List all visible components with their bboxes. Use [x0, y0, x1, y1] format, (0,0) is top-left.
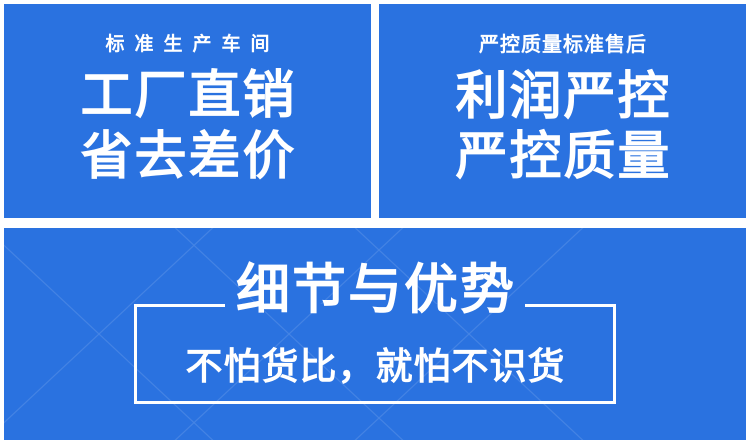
panel-details-advantages-content: 细节与优势 不怕货比，就怕不识货: [4, 228, 746, 440]
panel-details-advantages: 细节与优势 不怕货比，就怕不识货: [4, 228, 746, 440]
promo-banner: 标准生产车间 工厂直销 省去差价 严控质量标准售后 利润严控 严控质量 细节与优…: [0, 0, 750, 440]
factory-direct-headline-line1: 工厂直销: [78, 66, 296, 126]
panel-quality-control-content: 严控质量标准售后 利润严控 严控质量: [379, 4, 746, 218]
quality-control-headline-line2: 严控质量: [453, 127, 671, 187]
factory-direct-eyebrow: 标准生产车间: [95, 35, 279, 54]
quality-control-eyebrow: 严控质量标准售后: [478, 35, 647, 55]
quality-control-headline-line1: 利润严控: [453, 67, 671, 127]
panel-factory-direct: 标准生产车间 工厂直销 省去差价: [4, 4, 371, 218]
factory-direct-headline-line2: 省去差价: [78, 127, 296, 187]
panel-quality-control: 严控质量标准售后 利润严控 严控质量: [379, 4, 746, 218]
panel-factory-direct-content: 标准生产车间 工厂直销 省去差价: [4, 4, 371, 218]
details-advantages-title: 细节与优势: [234, 263, 516, 317]
details-advantages-subtitle: 不怕货比，就怕不识货: [185, 348, 566, 385]
details-advantages-frame: 细节与优势 不怕货比，就怕不识货: [134, 304, 616, 404]
